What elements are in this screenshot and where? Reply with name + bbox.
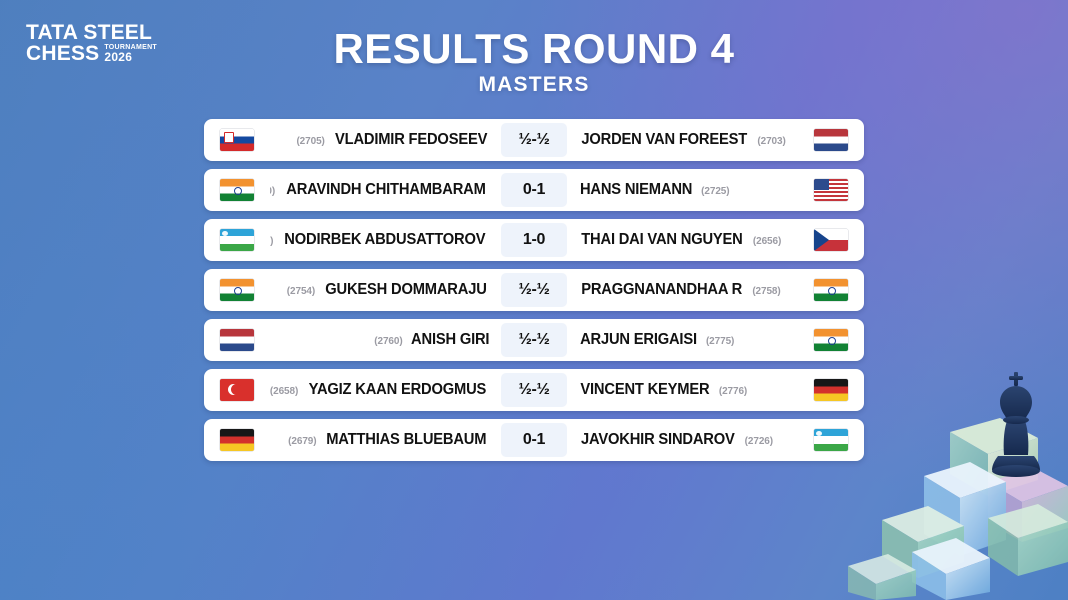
black-player: HANS NIEMANN(2725) xyxy=(567,181,798,199)
black-rating: (2775) xyxy=(706,336,734,347)
uzbekistan-flag xyxy=(220,229,254,251)
result-row[interactable]: (2760)ANISH GIRI½-½ARJUN ERIGAISI(2775) xyxy=(204,319,864,361)
match-score: 0-1 xyxy=(501,423,567,457)
black-name: THAI DAI VAN NGUYEN xyxy=(581,231,742,249)
result-row[interactable]: (2751)NODIRBEK ABDUSATTOROV1-0THAI DAI V… xyxy=(204,219,864,261)
black-player: THAI DAI VAN NGUYEN(2656) xyxy=(567,231,798,249)
white-rating: (2751) xyxy=(270,236,273,247)
white-name: GUKESH DOMMARAJU xyxy=(325,281,486,299)
white-rating: (2760) xyxy=(374,336,402,347)
white-player: (2751)NODIRBEK ABDUSATTOROV xyxy=(270,231,501,249)
black-name: VINCENT KEYMER xyxy=(580,381,709,399)
turkey-flag xyxy=(220,379,254,401)
white-flag-cell xyxy=(204,179,270,201)
black-name: JORDEN VAN FOREEST xyxy=(581,131,747,149)
result-row[interactable]: (2700)ARAVINDH CHITHAMBARAM0-1HANS NIEMA… xyxy=(204,169,864,211)
black-name: PRAGGNANANDHAA R xyxy=(581,281,742,299)
results-list: (2705)VLADIMIR FEDOSEEV½-½JORDEN VAN FOR… xyxy=(204,119,864,469)
white-flag-cell xyxy=(204,379,270,401)
result-row[interactable]: (2705)VLADIMIR FEDOSEEV½-½JORDEN VAN FOR… xyxy=(204,119,864,161)
black-flag-cell xyxy=(798,429,864,451)
black-rating: (2656) xyxy=(753,236,781,247)
germany-flag xyxy=(220,429,254,451)
black-player: VINCENT KEYMER(2776) xyxy=(567,381,798,399)
white-flag-cell xyxy=(204,279,270,301)
white-rating: (2754) xyxy=(287,286,315,297)
usa-flag xyxy=(814,179,848,201)
white-name: VLADIMIR FEDOSEEV xyxy=(335,131,487,149)
white-rating: (2700) xyxy=(270,186,275,197)
chess-king-and-glass-cubes-artwork xyxy=(838,370,1068,600)
white-player: (2700)ARAVINDH CHITHAMBARAM xyxy=(270,181,501,199)
black-player: PRAGGNANANDHAA R(2758) xyxy=(567,281,798,299)
india-flag xyxy=(220,279,254,301)
white-player: (2760)ANISH GIRI xyxy=(270,331,501,349)
uzbekistan-flag xyxy=(814,429,848,451)
white-rating: (2658) xyxy=(270,386,298,397)
black-flag-cell xyxy=(798,229,864,251)
white-name: YAGIZ KAAN ERDOGMUS xyxy=(309,381,486,399)
black-rating: (2776) xyxy=(719,386,747,397)
white-player: (2705)VLADIMIR FEDOSEEV xyxy=(270,131,501,149)
black-flag-cell xyxy=(798,329,864,351)
white-rating: (2705) xyxy=(296,136,324,147)
black-rating: (2703) xyxy=(757,136,785,147)
black-flag-cell xyxy=(798,129,864,151)
black-flag-cell xyxy=(798,279,864,301)
netherlands-flag xyxy=(814,129,848,151)
black-rating: (2758) xyxy=(752,286,780,297)
india-flag xyxy=(220,179,254,201)
india-flag xyxy=(814,329,848,351)
white-rating: (2679) xyxy=(288,436,316,447)
black-flag-cell xyxy=(798,379,864,401)
white-player: (2679)MATTHIAS BLUEBAUM xyxy=(270,431,501,449)
white-flag-cell xyxy=(204,429,270,451)
czech-republic-flag xyxy=(814,229,848,251)
white-flag-cell xyxy=(204,129,270,151)
germany-flag xyxy=(814,379,848,401)
black-flag-cell xyxy=(798,179,864,201)
white-name: ARAVINDH CHITHAMBARAM xyxy=(286,181,485,199)
result-row[interactable]: (2679)MATTHIAS BLUEBAUM0-1JAVOKHIR SINDA… xyxy=(204,419,864,461)
match-score: ½-½ xyxy=(501,123,567,157)
black-player: JAVOKHIR SINDAROV(2726) xyxy=(567,431,798,449)
black-player: ARJUN ERIGAISI(2775) xyxy=(567,331,798,349)
slovenia-flag xyxy=(220,129,254,151)
black-name: HANS NIEMANN xyxy=(580,181,692,199)
black-name: JAVOKHIR SINDAROV xyxy=(581,431,735,449)
page-title: RESULTS ROUND 4 xyxy=(0,25,1068,73)
white-name: NODIRBEK ABDUSATTOROV xyxy=(285,231,486,249)
white-flag-cell xyxy=(204,229,270,251)
match-score: 0-1 xyxy=(501,173,567,207)
black-name: ARJUN ERIGAISI xyxy=(580,331,697,349)
match-score: 1-0 xyxy=(501,223,567,257)
netherlands-flag xyxy=(220,329,254,351)
results-graphic: TATA STEEL CHESS TOURNAMENT 2026 RESULTS… xyxy=(0,0,1068,600)
white-player: (2754)GUKESH DOMMARAJU xyxy=(270,281,501,299)
result-row[interactable]: (2658)YAGIZ KAAN ERDOGMUS½-½VINCENT KEYM… xyxy=(204,369,864,411)
black-player: JORDEN VAN FOREEST(2703) xyxy=(567,131,798,149)
white-flag-cell xyxy=(204,329,270,351)
page-subtitle: MASTERS xyxy=(0,73,1068,97)
white-name: MATTHIAS BLUEBAUM xyxy=(327,431,487,449)
white-name: ANISH GIRI xyxy=(411,331,489,349)
white-player: (2658)YAGIZ KAAN ERDOGMUS xyxy=(270,381,501,399)
match-score: ½-½ xyxy=(501,373,567,407)
match-score: ½-½ xyxy=(501,323,567,357)
match-score: ½-½ xyxy=(501,273,567,307)
result-row[interactable]: (2754)GUKESH DOMMARAJU½-½PRAGGNANANDHAA … xyxy=(204,269,864,311)
india-flag xyxy=(814,279,848,301)
black-rating: (2725) xyxy=(701,186,729,197)
black-rating: (2726) xyxy=(745,436,773,447)
